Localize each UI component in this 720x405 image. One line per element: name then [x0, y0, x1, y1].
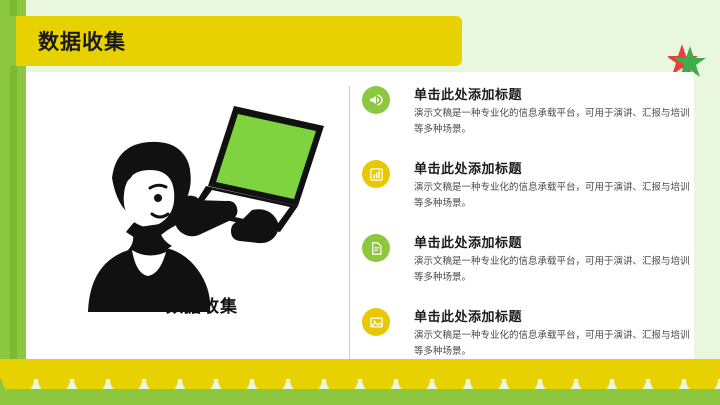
- illustration-person-with-laptop: [66, 82, 336, 312]
- content-card: 数据收集 单击此处添加标题 演示文稿是一种专业化的信息承载平台，可用于演讲、汇报…: [26, 72, 694, 360]
- document-search-icon: [362, 234, 390, 262]
- item-body: 演示文稿是一种专业化的信息承载平台，可用于演讲、汇报与培训等多种场景。: [414, 254, 692, 285]
- bottom-green-bar: [0, 389, 720, 405]
- item-heading: 单击此处添加标题: [414, 306, 522, 325]
- title-bar-notch: [0, 16, 16, 66]
- megaphone-icon: [362, 86, 390, 114]
- item-body: 演示文稿是一种专业化的信息承载平台，可用于演讲、汇报与培训等多种场景。: [414, 328, 692, 359]
- item-body: 演示文稿是一种专业化的信息承载平台，可用于演讲、汇报与培训等多种场景。: [414, 106, 692, 137]
- item-heading: 单击此处添加标题: [414, 84, 522, 103]
- illustration-caption: 数据收集: [52, 292, 352, 317]
- timeline-connector: [349, 86, 350, 362]
- page-title: 数据收集: [38, 26, 126, 56]
- bar-chart-icon: [362, 160, 390, 188]
- item-heading: 单击此处添加标题: [414, 158, 522, 177]
- image-icon: [362, 308, 390, 336]
- item-body: 演示文稿是一种专业化的信息承载平台，可用于演讲、汇报与培训等多种场景。: [414, 180, 692, 211]
- item-heading: 单击此处添加标题: [414, 232, 522, 251]
- slide: 数据收集: [0, 0, 720, 405]
